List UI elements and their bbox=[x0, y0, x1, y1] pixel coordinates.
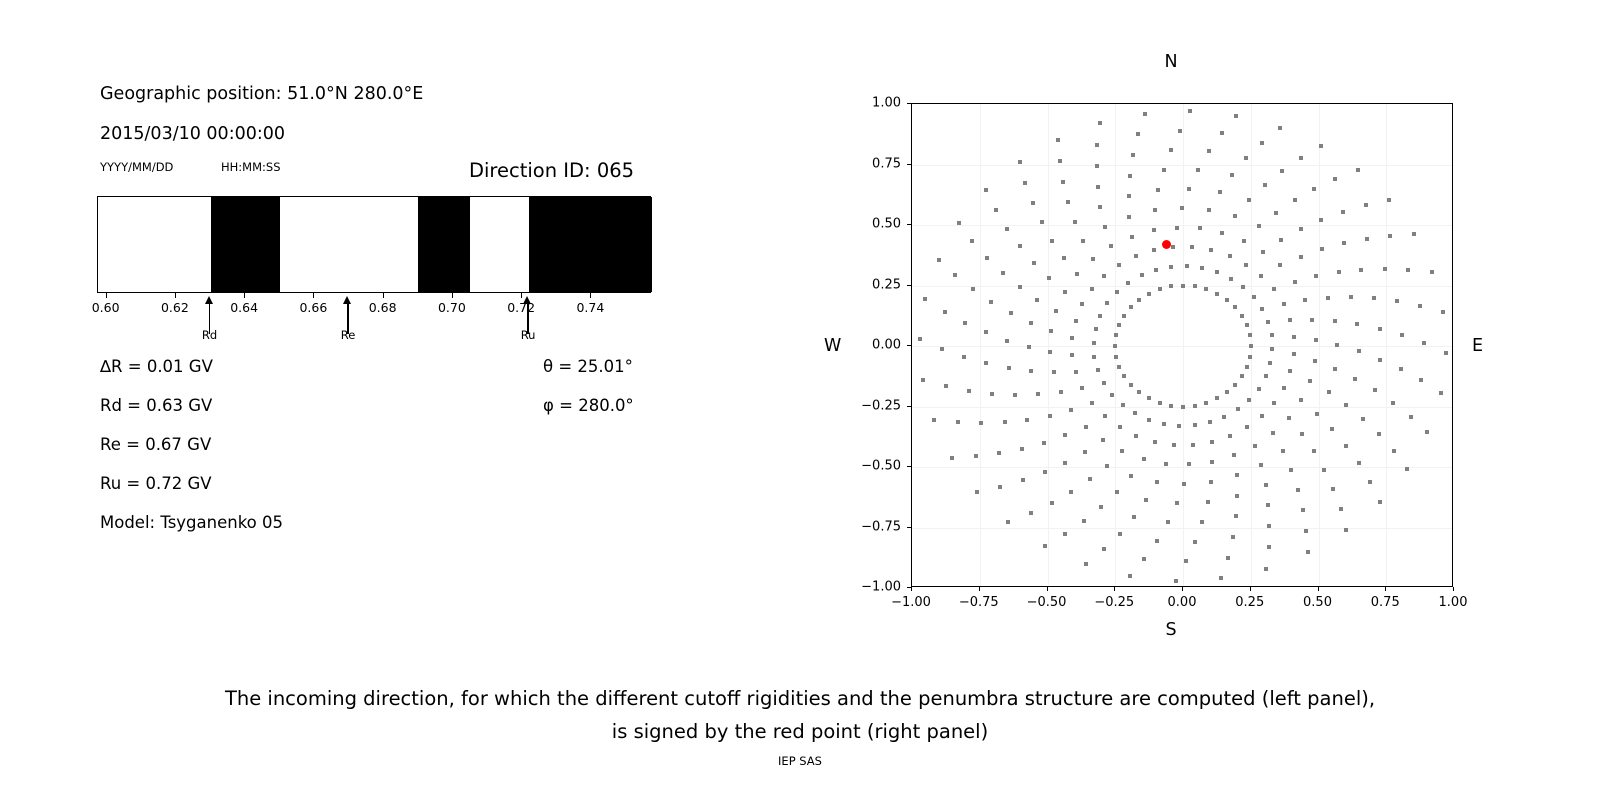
direction-point bbox=[1209, 480, 1213, 484]
direction-point bbox=[1018, 160, 1022, 164]
direction-point bbox=[1344, 444, 1348, 448]
direction-point bbox=[1127, 194, 1131, 198]
direction-point bbox=[1069, 490, 1073, 494]
direction-point bbox=[1182, 482, 1186, 486]
rigidity-arrow-label-re: Re bbox=[341, 328, 356, 342]
direction-point bbox=[1066, 200, 1070, 204]
direction-point bbox=[1373, 388, 1377, 392]
direction-point bbox=[1136, 132, 1140, 136]
direction-point bbox=[1419, 378, 1423, 382]
direction-point bbox=[1439, 391, 1443, 395]
direction-point bbox=[1117, 365, 1121, 369]
direction-point bbox=[1342, 241, 1346, 245]
direction-point bbox=[1140, 273, 1144, 277]
direction-point bbox=[1399, 367, 1403, 371]
direction-point bbox=[1280, 169, 1284, 173]
direction-point bbox=[1422, 341, 1426, 345]
direction-point bbox=[1096, 368, 1100, 372]
direction-point bbox=[1225, 390, 1229, 394]
penumbra-band-forbidden-3 bbox=[418, 197, 470, 292]
direction-point bbox=[1392, 449, 1396, 453]
direction-point bbox=[1310, 318, 1314, 322]
direction-point bbox=[1074, 319, 1078, 323]
direction-point bbox=[1200, 520, 1204, 524]
x-tick-mark bbox=[911, 587, 912, 591]
direction-point bbox=[1082, 519, 1086, 523]
penumbra-tick-label: 0.62 bbox=[161, 300, 189, 315]
penumbra-tick-label: 0.70 bbox=[438, 300, 466, 315]
direction-point bbox=[1425, 430, 1429, 434]
direction-point bbox=[1143, 112, 1147, 116]
direction-point bbox=[1063, 290, 1067, 294]
x-tick-label: 1.00 bbox=[1439, 595, 1468, 610]
y-tick-mark bbox=[907, 103, 911, 104]
direction-point bbox=[1356, 168, 1360, 172]
direction-point bbox=[1153, 440, 1157, 444]
x-tick-mark bbox=[1114, 587, 1115, 591]
gridline-vertical bbox=[1048, 104, 1049, 586]
direction-point bbox=[1090, 287, 1094, 291]
direction-point bbox=[1303, 298, 1307, 302]
direction-point bbox=[1098, 121, 1102, 125]
direction-point bbox=[1260, 414, 1264, 418]
direction-point bbox=[1105, 464, 1109, 468]
direction-point bbox=[1292, 352, 1296, 356]
direction-point bbox=[1059, 390, 1063, 394]
direction-point bbox=[1018, 244, 1022, 248]
direction-point bbox=[1169, 404, 1173, 408]
direction-point bbox=[1244, 156, 1248, 160]
direction-point bbox=[1137, 390, 1141, 394]
direction-point bbox=[1231, 535, 1235, 539]
direction-point bbox=[967, 389, 971, 393]
direction-point bbox=[1207, 208, 1211, 212]
direction-point bbox=[1083, 450, 1087, 454]
right-panel: −1.00−0.75−0.50−0.250.000.250.500.751.00… bbox=[800, 40, 1560, 660]
direction-point bbox=[1013, 393, 1017, 397]
penumbra-tick-label: 0.74 bbox=[576, 300, 604, 315]
direction-point bbox=[1098, 205, 1102, 209]
penumbra-tick-mark bbox=[383, 293, 384, 298]
direction-point bbox=[1185, 264, 1189, 268]
direction-point bbox=[1007, 366, 1011, 370]
direction-point bbox=[970, 239, 974, 243]
direction-point bbox=[1220, 231, 1224, 235]
direction-point bbox=[1210, 440, 1214, 444]
direction-point bbox=[1278, 263, 1282, 267]
direction-point bbox=[921, 378, 925, 382]
direction-point bbox=[1253, 444, 1257, 448]
direction-point bbox=[1222, 415, 1226, 419]
direction-point bbox=[1126, 281, 1130, 285]
direction-point bbox=[1172, 443, 1176, 447]
penumbra-tick-mark bbox=[244, 293, 245, 298]
direction-point bbox=[1129, 305, 1133, 309]
direction-point bbox=[1075, 272, 1079, 276]
direction-point bbox=[1260, 141, 1264, 145]
direction-point bbox=[1084, 562, 1088, 566]
direction-point bbox=[1209, 248, 1213, 252]
penumbra-band-forbidden-5 bbox=[529, 197, 652, 292]
direction-point bbox=[1040, 220, 1044, 224]
direction-point bbox=[1088, 477, 1092, 481]
direction-point bbox=[1395, 299, 1399, 303]
direction-point bbox=[984, 188, 988, 192]
direction-point bbox=[1114, 333, 1118, 337]
direction-point bbox=[1247, 198, 1251, 202]
direction-point bbox=[1137, 298, 1141, 302]
direction-point bbox=[1252, 295, 1256, 299]
direction-point bbox=[1134, 434, 1138, 438]
compass-label-north: N bbox=[1164, 52, 1177, 72]
direction-point bbox=[1155, 539, 1159, 543]
direction-point bbox=[984, 330, 988, 334]
y-tick-mark bbox=[907, 285, 911, 286]
time-format-hint: HH:MM:SS bbox=[221, 160, 281, 174]
direction-point bbox=[1293, 198, 1297, 202]
direction-point bbox=[1378, 358, 1382, 362]
direction-point bbox=[1247, 398, 1251, 402]
y-tick-label: −0.75 bbox=[849, 519, 901, 534]
y-tick-mark bbox=[907, 224, 911, 225]
direction-point bbox=[1193, 423, 1197, 427]
x-tick-label: 0.00 bbox=[1168, 595, 1197, 610]
direction-point bbox=[1282, 302, 1286, 306]
direction-point bbox=[1101, 438, 1105, 442]
gridline-vertical bbox=[1183, 104, 1184, 586]
direction-point bbox=[1204, 401, 1208, 405]
direction-point bbox=[1092, 355, 1096, 359]
direction-point bbox=[1261, 250, 1265, 254]
direction-point bbox=[1391, 401, 1395, 405]
rigidity-arrow-label-ru: Ru bbox=[521, 328, 536, 342]
direction-point bbox=[1094, 327, 1098, 331]
direction-point bbox=[971, 287, 975, 291]
direction-point bbox=[1166, 520, 1170, 524]
direction-map-plot bbox=[911, 103, 1453, 587]
direction-point bbox=[1169, 265, 1173, 269]
direction-point bbox=[1031, 201, 1035, 205]
direction-point bbox=[1187, 187, 1191, 191]
direction-point bbox=[950, 456, 954, 460]
direction-point bbox=[979, 421, 983, 425]
x-tick-label: 0.50 bbox=[1303, 595, 1332, 610]
direction-point bbox=[956, 420, 960, 424]
direction-point bbox=[1260, 307, 1264, 311]
direction-point bbox=[1114, 355, 1118, 359]
direction-point bbox=[1084, 425, 1088, 429]
direction-point bbox=[1406, 268, 1410, 272]
direction-point bbox=[1372, 296, 1376, 300]
direction-point bbox=[1063, 461, 1067, 465]
direction-point bbox=[1349, 295, 1353, 299]
direction-point bbox=[1355, 322, 1359, 326]
direction-point bbox=[1073, 220, 1077, 224]
direction-point bbox=[1288, 369, 1292, 373]
direction-point bbox=[1282, 386, 1286, 390]
direction-point bbox=[1103, 414, 1107, 418]
compass-label-south: S bbox=[1165, 620, 1176, 640]
direction-point bbox=[1048, 414, 1052, 418]
y-tick-mark bbox=[907, 164, 911, 165]
figure-caption: The incoming direction, for which the di… bbox=[0, 682, 1600, 748]
gridline-horizontal bbox=[912, 346, 1452, 347]
footer-credit: IEP SAS bbox=[0, 754, 1600, 768]
direction-point bbox=[1241, 285, 1245, 289]
direction-point bbox=[1271, 431, 1275, 435]
x-tick-label: −1.00 bbox=[891, 595, 931, 610]
direction-point bbox=[1249, 344, 1253, 348]
direction-point bbox=[1272, 401, 1276, 405]
left-panel: Geographic position: 51.0°N 280.0°E 2015… bbox=[0, 0, 700, 620]
direction-point bbox=[974, 454, 978, 458]
direction-point bbox=[1333, 367, 1337, 371]
direction-point bbox=[1129, 474, 1133, 478]
direction-point bbox=[1242, 239, 1246, 243]
direction-point bbox=[1035, 298, 1039, 302]
direction-point bbox=[1296, 488, 1300, 492]
direction-point bbox=[1122, 374, 1126, 378]
direction-point bbox=[1091, 257, 1095, 261]
direction-point bbox=[1378, 327, 1382, 331]
direction-point bbox=[1357, 461, 1361, 465]
direction-point bbox=[957, 221, 961, 225]
direction-point bbox=[1005, 339, 1009, 343]
direction-point bbox=[1090, 401, 1094, 405]
direction-point bbox=[1218, 190, 1222, 194]
direction-point bbox=[1331, 487, 1335, 491]
direction-point bbox=[1023, 181, 1027, 185]
gridline-vertical bbox=[1386, 104, 1387, 586]
direction-point bbox=[1248, 333, 1252, 337]
x-tick-mark bbox=[1453, 587, 1454, 591]
penumbra-structure-chart bbox=[97, 196, 651, 293]
direction-point bbox=[1118, 425, 1122, 429]
direction-point bbox=[1326, 296, 1330, 300]
direction-point bbox=[1377, 432, 1381, 436]
direction-point bbox=[1368, 480, 1372, 484]
direction-point bbox=[1181, 405, 1185, 409]
direction-point bbox=[1335, 343, 1339, 347]
direction-point bbox=[1204, 287, 1208, 291]
direction-point bbox=[1245, 365, 1249, 369]
direction-point bbox=[1319, 144, 1323, 148]
direction-point bbox=[940, 347, 944, 351]
direction-point bbox=[1142, 457, 1146, 461]
direction-point bbox=[1206, 500, 1210, 504]
y-tick-mark bbox=[907, 406, 911, 407]
direction-point bbox=[1132, 515, 1136, 519]
direction-point bbox=[1200, 266, 1204, 270]
result-line-2: Re = 0.67 GV bbox=[100, 435, 211, 454]
direction-point bbox=[1229, 277, 1233, 281]
direction-point bbox=[1018, 285, 1022, 289]
direction-point bbox=[1306, 550, 1310, 554]
direction-point bbox=[1314, 338, 1318, 342]
direction-point bbox=[1058, 159, 1062, 163]
compass-label-east: E bbox=[1472, 336, 1483, 356]
direction-point bbox=[1288, 318, 1292, 322]
direction-point bbox=[1312, 187, 1316, 191]
direction-point bbox=[1301, 508, 1305, 512]
direction-point bbox=[1109, 244, 1113, 248]
direction-point bbox=[1021, 478, 1025, 482]
direction-point bbox=[1147, 396, 1151, 400]
y-tick-label: 1.00 bbox=[849, 96, 901, 111]
direction-point bbox=[1162, 168, 1166, 172]
direction-point bbox=[1175, 226, 1179, 230]
direction-point bbox=[1110, 393, 1114, 397]
direction-point bbox=[1270, 347, 1274, 351]
direction-point bbox=[1207, 149, 1211, 153]
direction-point bbox=[962, 355, 966, 359]
direction-point bbox=[1409, 415, 1413, 419]
direction-point bbox=[1153, 208, 1157, 212]
direction-point bbox=[1441, 310, 1445, 314]
direction-point bbox=[1177, 424, 1181, 428]
direction-point bbox=[1278, 126, 1282, 130]
y-tick-label: −0.50 bbox=[849, 459, 901, 474]
direction-point bbox=[1120, 449, 1124, 453]
direction-point bbox=[1245, 323, 1249, 327]
direction-point bbox=[1102, 274, 1106, 278]
direction-point bbox=[943, 310, 947, 314]
direction-point bbox=[1299, 255, 1303, 259]
direction-point bbox=[918, 337, 922, 341]
y-tick-mark bbox=[907, 527, 911, 528]
direction-point bbox=[1070, 353, 1074, 357]
result-line-1: Rd = 0.63 GV bbox=[100, 396, 212, 415]
direction-point bbox=[1225, 298, 1229, 302]
direction-point bbox=[1095, 164, 1099, 168]
direction-point bbox=[1219, 576, 1223, 580]
y-tick-label: −1.00 bbox=[849, 580, 901, 595]
direction-point bbox=[1299, 227, 1303, 231]
x-tick-label: −0.50 bbox=[1027, 595, 1067, 610]
direction-point bbox=[1115, 290, 1119, 294]
direction-point bbox=[1178, 129, 1182, 133]
y-tick-label: 0.25 bbox=[849, 277, 901, 292]
direction-point bbox=[1115, 490, 1119, 494]
direction-point bbox=[1236, 407, 1240, 411]
direction-point bbox=[1117, 263, 1121, 267]
direction-point bbox=[1279, 238, 1283, 242]
direction-point bbox=[990, 392, 994, 396]
direction-point bbox=[1292, 335, 1296, 339]
penumbra-band-allowed-2 bbox=[280, 197, 419, 292]
direction-point bbox=[1006, 520, 1010, 524]
direction-point bbox=[1240, 374, 1244, 378]
direction-point bbox=[1240, 314, 1244, 318]
direction-point bbox=[1105, 301, 1109, 305]
direction-point bbox=[1365, 237, 1369, 241]
direction-point bbox=[1027, 345, 1031, 349]
direction-point bbox=[1191, 443, 1195, 447]
direction-point bbox=[1193, 540, 1197, 544]
direction-point bbox=[1344, 403, 1348, 407]
direction-point bbox=[1036, 392, 1040, 396]
y-tick-mark bbox=[907, 466, 911, 467]
direction-point bbox=[1339, 507, 1343, 511]
direction-point bbox=[1353, 377, 1357, 381]
direction-point bbox=[1005, 227, 1009, 231]
caption-line-2: is signed by the red point (right panel) bbox=[0, 715, 1600, 748]
direction-point bbox=[1444, 351, 1448, 355]
result-line-4: Model: Tsyganenko 05 bbox=[100, 513, 283, 532]
direction-point bbox=[1259, 274, 1263, 278]
result-line-0: ∆R = 0.01 GV bbox=[100, 357, 213, 376]
direction-point bbox=[1063, 433, 1067, 437]
direction-point bbox=[989, 300, 993, 304]
direction-point bbox=[1102, 381, 1106, 385]
direction-point bbox=[1357, 349, 1361, 353]
direction-point bbox=[1388, 234, 1392, 238]
direction-point bbox=[1048, 350, 1052, 354]
direction-point bbox=[1304, 529, 1308, 533]
direction-point bbox=[1333, 319, 1337, 323]
direction-point bbox=[953, 273, 957, 277]
direction-point bbox=[1344, 528, 1348, 532]
direction-point bbox=[1056, 138, 1060, 142]
direction-point bbox=[1029, 511, 1033, 515]
penumbra-tick-mark bbox=[590, 293, 591, 298]
direction-point bbox=[1063, 532, 1067, 536]
direction-point bbox=[1042, 441, 1046, 445]
direction-point bbox=[1147, 292, 1151, 296]
geographic-position-label: Geographic position: 51.0°N 280.0°E bbox=[100, 84, 423, 104]
direction-point bbox=[1080, 302, 1084, 306]
direction-point bbox=[1228, 434, 1232, 438]
direction-point bbox=[1228, 254, 1232, 258]
direction-point bbox=[1154, 268, 1158, 272]
direction-point bbox=[1184, 559, 1188, 563]
penumbra-band-allowed-4 bbox=[470, 197, 529, 292]
direction-point bbox=[1293, 280, 1297, 284]
direction-point bbox=[1001, 271, 1005, 275]
direction-point bbox=[1196, 168, 1200, 172]
direction-point bbox=[1043, 470, 1047, 474]
penumbra-tick-label: 0.64 bbox=[230, 300, 258, 315]
direction-point bbox=[1032, 261, 1036, 265]
direction-point bbox=[1029, 321, 1033, 325]
direction-point bbox=[984, 361, 988, 365]
direction-point bbox=[1080, 386, 1084, 390]
direction-point bbox=[1155, 480, 1159, 484]
direction-point bbox=[1234, 514, 1238, 518]
direction-point bbox=[1235, 473, 1239, 477]
direction-point bbox=[1070, 336, 1074, 340]
direction-point bbox=[1050, 239, 1054, 243]
direction-point bbox=[963, 321, 967, 325]
x-tick-label: −0.75 bbox=[959, 595, 999, 610]
direction-point bbox=[1264, 483, 1268, 487]
penumbra-tick-mark bbox=[106, 293, 107, 298]
direction-point bbox=[1308, 379, 1312, 383]
direction-point bbox=[1337, 270, 1341, 274]
direction-point bbox=[1128, 574, 1132, 578]
direction-point bbox=[1074, 370, 1078, 374]
x-tick-mark bbox=[1250, 587, 1251, 591]
direction-point bbox=[1047, 276, 1051, 280]
direction-point bbox=[1208, 420, 1212, 424]
direction-point bbox=[1383, 267, 1387, 271]
direction-point bbox=[1049, 329, 1053, 333]
direction-point bbox=[1152, 248, 1156, 252]
direction-point bbox=[1233, 214, 1237, 218]
direction-point bbox=[1062, 256, 1066, 260]
angle-line-1: φ = 280.0° bbox=[543, 396, 634, 415]
direction-point bbox=[1158, 287, 1162, 291]
